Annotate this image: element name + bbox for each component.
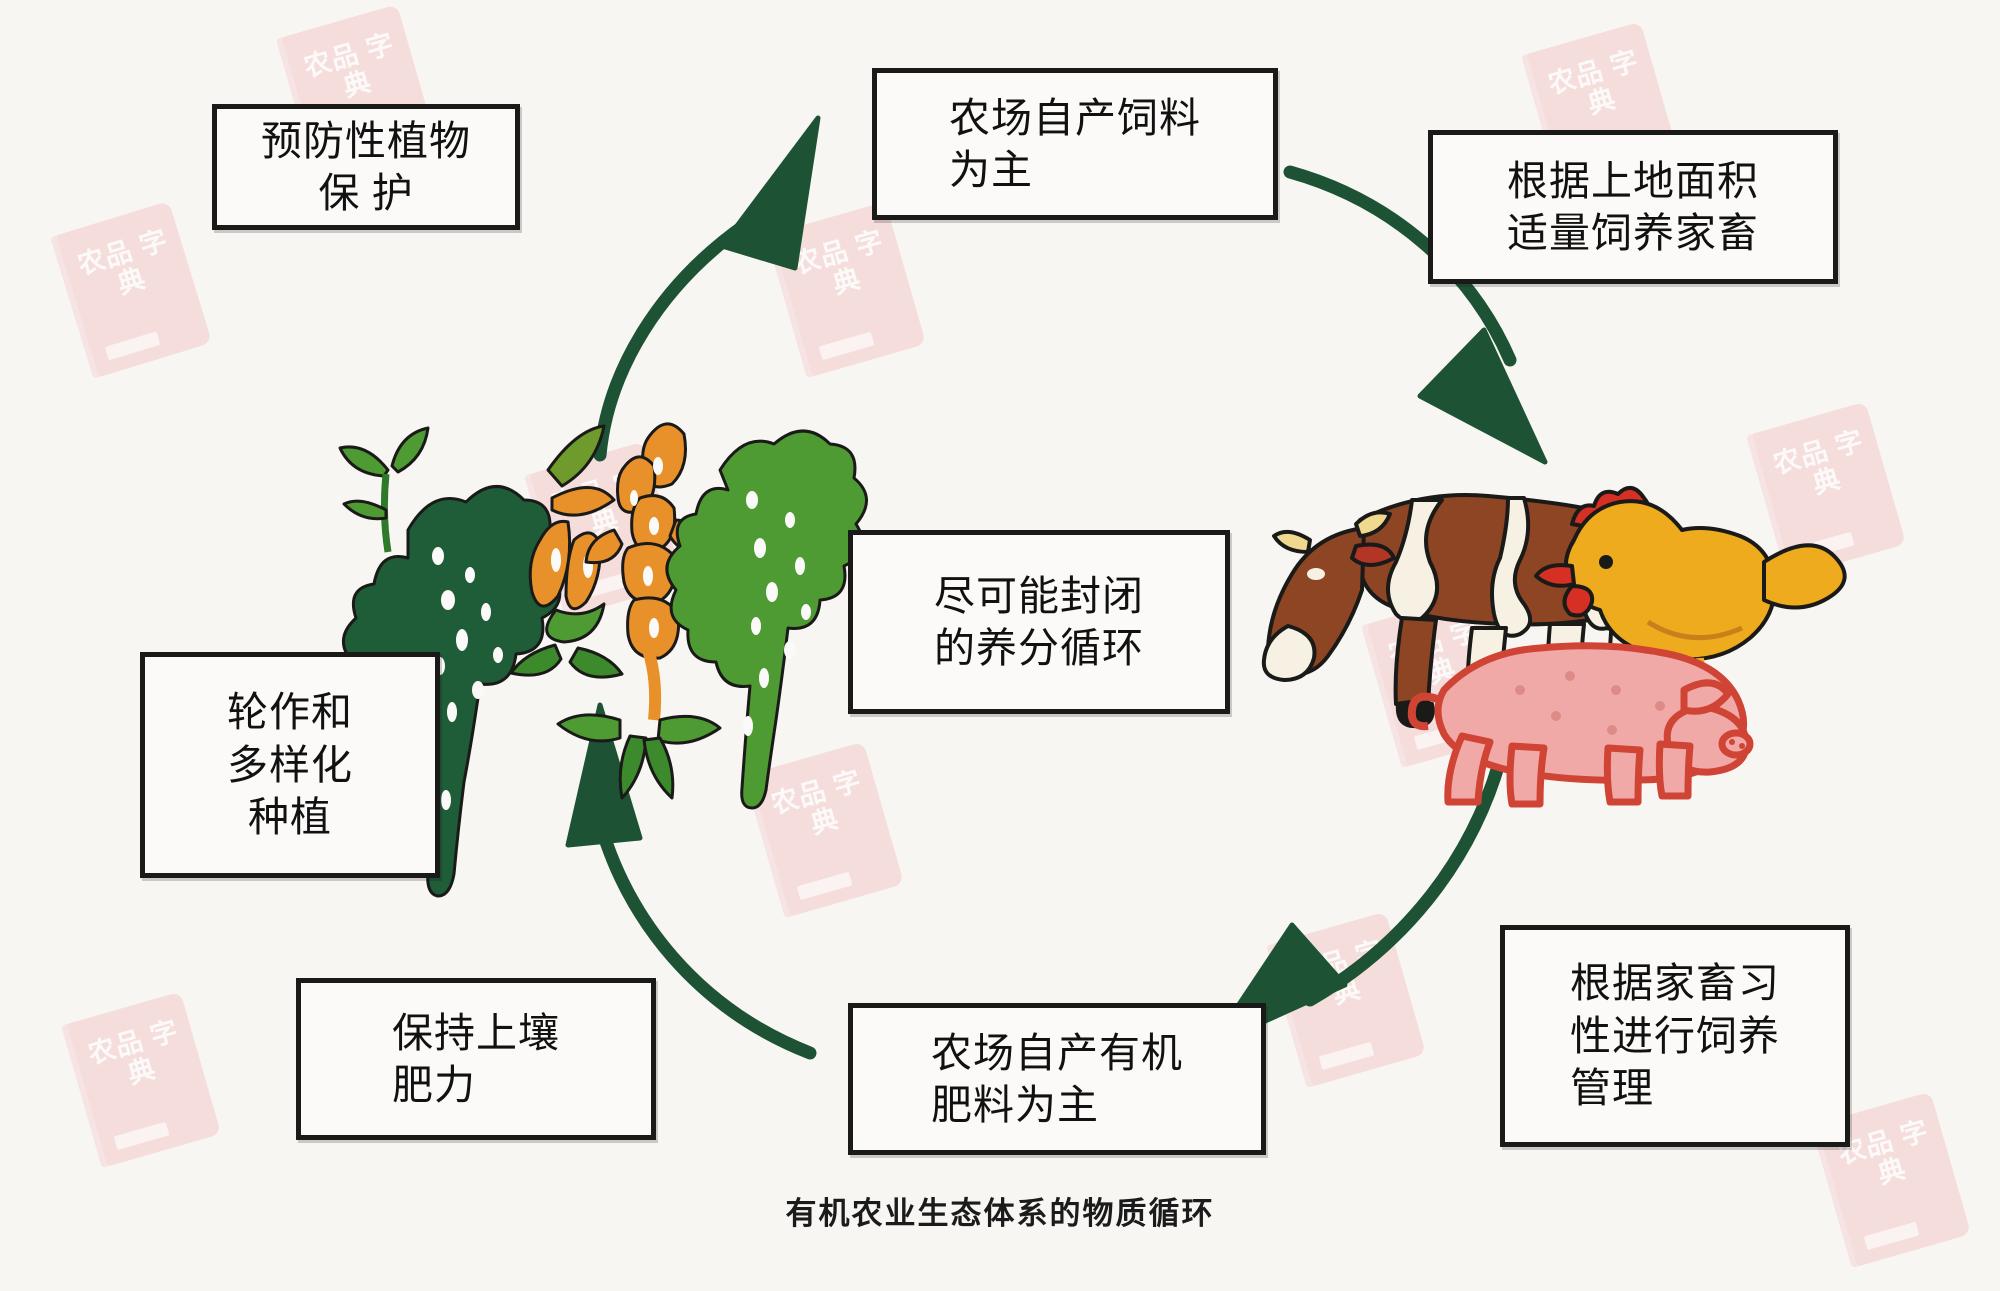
diagram-caption: 有机农业生态体系的物质循环: [0, 1188, 2000, 1233]
node-label: 保持上壤 肥力: [382, 1007, 570, 1112]
bright-leafy-plant: [667, 431, 867, 808]
node-label: 根据上地面积 适量饲养家畜: [1497, 155, 1769, 260]
node-label: 根据家畜习 性进行饲养 管理: [1560, 957, 1790, 1114]
node-label: 预防性植物 保 护: [251, 115, 481, 220]
node-label: 农场自产有机 肥料为主: [921, 1027, 1193, 1132]
diagram-canvas: 农品 字典 农品 字典 农品 字典 农品 字典 农品 字典 农品 字典 农品 字…: [0, 0, 2000, 1291]
node-livestock-husbandry[interactable]: 根据家畜习 性进行饲养 管理: [1500, 925, 1850, 1147]
node-soil-fertility[interactable]: 保持上壤 肥力: [296, 978, 656, 1140]
node-farm-feed[interactable]: 农场自产饲料 为主: [872, 68, 1278, 220]
node-livestock-by-land[interactable]: 根据上地面积 适量饲养家畜: [1428, 130, 1838, 284]
pig-illustration: [1412, 646, 1750, 804]
node-closed-nutrient-cycle[interactable]: 尽可能封闭 的养分循环: [848, 530, 1230, 714]
node-plant-protection[interactable]: 预防性植物 保 护: [212, 104, 520, 230]
node-crop-rotation[interactable]: 轮作和 多样化 种植: [140, 652, 440, 878]
node-label: 农场自产饲料 为主: [939, 92, 1211, 197]
node-label: 尽可能封闭 的养分循环: [924, 570, 1154, 675]
node-farm-manure[interactable]: 农场自产有机 肥料为主: [848, 1003, 1266, 1155]
node-label: 轮作和 多样化 种植: [217, 686, 363, 843]
